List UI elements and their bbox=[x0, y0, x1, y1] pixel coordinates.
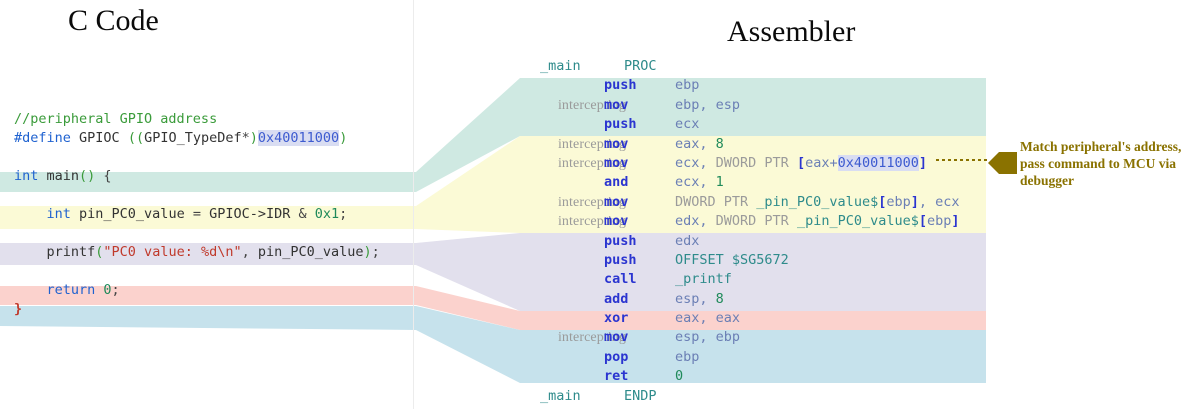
reg-ebp: ebp bbox=[675, 349, 699, 365]
c-code-title: C Code bbox=[68, 4, 159, 38]
bracket-open: [ bbox=[797, 155, 805, 171]
c-main-brace: { bbox=[95, 168, 111, 184]
c-return-semi: ; bbox=[112, 282, 120, 298]
asm-operands-mov-eax-8: eax, 8 bbox=[675, 136, 724, 152]
asm-line-push-ecx: push ecx bbox=[520, 116, 990, 135]
bracket-close: ] bbox=[911, 194, 919, 210]
c-line-blank3 bbox=[0, 224, 416, 243]
asm-operands-mov-ecx-mem: ecx, DWORD PTR [eax+0x40011000] bbox=[675, 155, 927, 171]
size-directive: DWORD PTR bbox=[675, 194, 756, 210]
c-readpin-kw: int bbox=[14, 206, 71, 222]
asm-directive-endp: ENDP bbox=[624, 388, 657, 404]
comma: , bbox=[699, 310, 715, 326]
imm-8: 8 bbox=[716, 136, 724, 152]
reg-ebp: ebp bbox=[886, 194, 910, 210]
asm-operands-mov-ebp-esp: ebp, esp bbox=[675, 97, 740, 113]
asm-label-main-endp: _main bbox=[540, 388, 581, 404]
c-return-kw: return bbox=[14, 282, 103, 298]
asm-line-push-ebp: push ebp bbox=[520, 77, 990, 96]
c-printf-format: "PC0 value: %d\n" bbox=[103, 244, 241, 260]
c-define-address: 0x40011000 bbox=[258, 130, 339, 146]
asm-mnemonic-push: push bbox=[604, 252, 637, 268]
comma: , bbox=[699, 97, 715, 113]
asm-mnemonic-mov: mov bbox=[604, 329, 628, 345]
offset-keyword: OFFSET bbox=[675, 252, 732, 268]
c-define-kw: #define bbox=[14, 130, 71, 146]
bracket-open: [ bbox=[919, 213, 927, 229]
asm-line-push-offset: push OFFSET $SG5672 bbox=[520, 252, 990, 271]
c-line-comment: //peripheral GPIO address bbox=[0, 110, 416, 129]
c-main-name: main bbox=[38, 168, 79, 184]
symbol-printf: _printf bbox=[675, 271, 732, 287]
imm-1: 1 bbox=[716, 174, 724, 190]
symbol-pin-pc0-value: _pin_PC0_value$ bbox=[756, 194, 878, 210]
comma: , bbox=[699, 329, 715, 345]
comma: , bbox=[699, 174, 715, 190]
reg-eax: eax bbox=[675, 136, 699, 152]
c-printf-arg: pin_PC0_value bbox=[258, 244, 364, 260]
asm-line-add-esp-8: add esp, 8 bbox=[520, 291, 990, 310]
c-printf-paren-close: ) bbox=[364, 244, 372, 260]
c-line-printf: printf("PC0 value: %d\n", pin_PC0_value)… bbox=[0, 243, 416, 262]
asm-line-mov-store: intercepting mov DWORD PTR _pin_PC0_valu… bbox=[520, 194, 990, 213]
asm-line-mov-ebp-esp: intercepting mov ebp, esp bbox=[520, 97, 990, 116]
asm-operands-push-edx: edx bbox=[675, 233, 699, 249]
annotation-leader-dots bbox=[936, 159, 990, 161]
asm-mnemonic-pop: pop bbox=[604, 349, 628, 365]
c-readpin-var: pin_PC0_value bbox=[71, 206, 193, 222]
imm-8: 8 bbox=[716, 291, 724, 307]
asm-line-mov-load: intercepting mov edx, DWORD PTR _pin_PC0… bbox=[520, 213, 990, 232]
c-printf-semi: ; bbox=[372, 244, 380, 260]
asm-operands-push-offset: OFFSET $SG5672 bbox=[675, 252, 789, 268]
c-readpin-eq: = bbox=[193, 206, 209, 222]
asm-line-mov-ecx-mem: intercepting mov ecx, DWORD PTR [eax+0x4… bbox=[520, 155, 990, 174]
asm-line-ret: ret 0 bbox=[520, 368, 990, 387]
reg-esp: esp bbox=[675, 329, 699, 345]
comma: , bbox=[699, 213, 715, 229]
asm-mnemonic-mov: mov bbox=[604, 136, 628, 152]
reg-ecx: ecx bbox=[675, 116, 699, 132]
c-readpin-mask: 0x1 bbox=[315, 206, 339, 222]
asm-operands-mov-load: edx, DWORD PTR _pin_PC0_value$[ebp] bbox=[675, 213, 960, 229]
c-return-value: 0 bbox=[103, 282, 111, 298]
asm-mnemonic-call: call bbox=[604, 271, 637, 287]
reg-eax: eax bbox=[716, 310, 740, 326]
c-define-star: * bbox=[242, 130, 250, 146]
asm-mnemonic-xor: xor bbox=[604, 310, 628, 326]
reg-ebp: ebp bbox=[927, 213, 951, 229]
c-comment-text: //peripheral GPIO address bbox=[14, 111, 217, 127]
reg-esp: esp bbox=[675, 291, 699, 307]
imm-0: 0 bbox=[675, 368, 683, 384]
asm-operands-call-printf: _printf bbox=[675, 271, 732, 287]
c-line-blank2 bbox=[0, 186, 416, 205]
reg-ecx: ecx bbox=[675, 155, 699, 171]
diagram-root: C Code Assembler //peripheral GPIO addre… bbox=[0, 0, 1192, 409]
asm-operands-and-ecx-1: ecx, 1 bbox=[675, 174, 724, 190]
asm-line-mov-esp-ebp: intercepting mov esp, ebp bbox=[520, 329, 990, 348]
reg-eax: eax bbox=[805, 155, 829, 171]
c-line-return: return 0; bbox=[0, 281, 416, 300]
reg-ebp: ebp bbox=[675, 77, 699, 93]
asm-line-pop-ebp: pop ebp bbox=[520, 349, 990, 368]
symbol-pin-pc0-value: _pin_PC0_value$ bbox=[797, 213, 919, 229]
plus: + bbox=[829, 155, 837, 171]
asm-mnemonic-ret: ret bbox=[604, 368, 628, 384]
reg-ecx: ecx bbox=[935, 194, 959, 210]
c-main-parens: () bbox=[79, 168, 95, 184]
asm-mnemonic-push: push bbox=[604, 77, 637, 93]
c-define-paren-close: ) bbox=[339, 130, 347, 146]
peripheral-address: 0x40011000 bbox=[838, 155, 919, 171]
size-directive: DWORD PTR bbox=[716, 213, 797, 229]
c-define-cast: GPIO_TypeDef bbox=[144, 130, 242, 146]
c-line-close: } bbox=[0, 300, 416, 319]
asm-operands-add-esp-8: esp, 8 bbox=[675, 291, 724, 307]
c-line-define: #define GPIOC ((GPIO_TypeDef*)0x40011000… bbox=[0, 129, 416, 148]
asm-operands-pop-ebp: ebp bbox=[675, 349, 699, 365]
c-readpin-expr: GPIOC->IDR bbox=[209, 206, 298, 222]
reg-edx: edx bbox=[675, 213, 699, 229]
asm-operands-mov-esp-ebp: esp, ebp bbox=[675, 329, 740, 345]
string-literal-symbol: $SG5672 bbox=[732, 252, 789, 268]
c-define-paren-mid: ) bbox=[250, 130, 258, 146]
asm-mnemonic-push: push bbox=[604, 116, 637, 132]
asm-line-main-endp: _main ENDP bbox=[520, 388, 990, 407]
c-readpin-semi: ; bbox=[339, 206, 347, 222]
bracket-close: ] bbox=[951, 213, 959, 229]
asm-operands-ret: 0 bbox=[675, 368, 683, 384]
asm-line-and-ecx-1: and ecx, 1 bbox=[520, 174, 990, 193]
asm-operands-mov-store: DWORD PTR _pin_PC0_value$[ebp], ecx bbox=[675, 194, 960, 210]
c-line-blank4 bbox=[0, 262, 416, 281]
asm-mnemonic-mov: mov bbox=[604, 155, 628, 171]
asm-line-push-edx: push edx bbox=[520, 233, 990, 252]
c-line-main-open: int main() { bbox=[0, 167, 416, 186]
c-line-read-pin: int pin_PC0_value = GPIOC->IDR & 0x1; bbox=[0, 205, 416, 224]
asm-mnemonic-mov: mov bbox=[604, 213, 628, 229]
assembler-panel: _main PROC push ebp intercepting mov ebp… bbox=[520, 58, 990, 407]
assembler-title: Assembler bbox=[727, 15, 855, 49]
reg-ebp: ebp bbox=[675, 97, 699, 113]
asm-mnemonic-mov: mov bbox=[604, 97, 628, 113]
c-code-panel: //peripheral GPIO address #define GPIOC … bbox=[0, 110, 416, 319]
asm-operands-push-ebp: ebp bbox=[675, 77, 699, 93]
asm-label-main-proc: _main bbox=[540, 58, 581, 74]
annotation-text: Match peripheral's address, pass command… bbox=[1020, 138, 1192, 189]
c-line-blank1 bbox=[0, 148, 416, 167]
asm-operands-xor-eax: eax, eax bbox=[675, 310, 740, 326]
comma: , bbox=[699, 291, 715, 307]
asm-mnemonic-add: add bbox=[604, 291, 628, 307]
c-printf-comma: , bbox=[242, 244, 258, 260]
reg-ebp: ebp bbox=[716, 329, 740, 345]
comma: , bbox=[699, 155, 715, 171]
c-printf-name: printf bbox=[14, 244, 95, 260]
comma: , bbox=[919, 194, 935, 210]
size-directive: DWORD PTR bbox=[716, 155, 797, 171]
annotation-arrow-icon bbox=[988, 150, 1018, 176]
bracket-close: ] bbox=[919, 155, 927, 171]
c-close-brace: } bbox=[14, 301, 22, 317]
comma: , bbox=[699, 136, 715, 152]
reg-esp: esp bbox=[716, 97, 740, 113]
reg-eax: eax bbox=[675, 310, 699, 326]
asm-line-call-printf: call _printf bbox=[520, 271, 990, 290]
c-define-name: GPIOC bbox=[71, 130, 128, 146]
asm-directive-proc: PROC bbox=[624, 58, 657, 74]
c-main-kw: int bbox=[14, 168, 38, 184]
c-readpin-amp: & bbox=[299, 206, 315, 222]
c-define-paren-open: (( bbox=[128, 130, 144, 146]
reg-ecx: ecx bbox=[675, 174, 699, 190]
asm-operands-push-ecx: ecx bbox=[675, 116, 699, 132]
asm-line-xor-eax: xor eax, eax bbox=[520, 310, 990, 329]
asm-mnemonic-mov: mov bbox=[604, 194, 628, 210]
asm-mnemonic-push: push bbox=[604, 233, 637, 249]
asm-line-mov-eax-8: intercepting mov eax, 8 bbox=[520, 136, 990, 155]
asm-mnemonic-and: and bbox=[604, 174, 628, 190]
reg-edx: edx bbox=[675, 233, 699, 249]
asm-line-main-proc: _main PROC bbox=[520, 58, 990, 77]
